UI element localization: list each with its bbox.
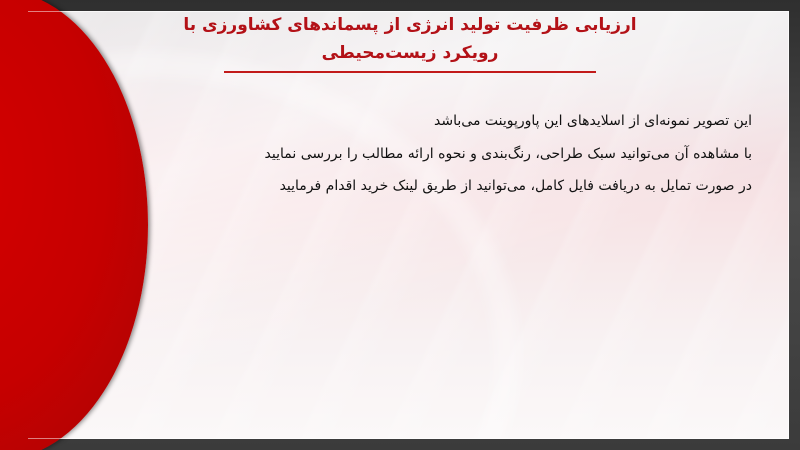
body-line-2: با مشاهده آن می‌توانید سبک طراحی، رنگ‌بن… — [70, 138, 752, 170]
body-line-3: در صورت تمایل به دریافت فایل کامل، می‌تو… — [70, 170, 752, 202]
body-line-1: این تصویر نمونه‌ای از اسلایدهای این پاور… — [70, 105, 752, 137]
title-underline-rule — [224, 71, 596, 73]
slide-content: ارزیابی ظرفیت تولید انرژی از پسماندهای ک… — [60, 0, 760, 450]
slide-title-line-2: رویکرد زیست‌محیطی — [60, 40, 760, 68]
slide-title-block: ارزیابی ظرفیت تولید انرژی از پسماندهای ک… — [60, 12, 760, 73]
slide-title-line-1: ارزیابی ظرفیت تولید انرژی از پسماندهای ک… — [60, 12, 760, 40]
presentation-slide: ارزیابی ظرفیت تولید انرژی از پسماندهای ک… — [0, 0, 800, 450]
slide-body-block: این تصویر نمونه‌ای از اسلایدهای این پاور… — [60, 105, 760, 202]
